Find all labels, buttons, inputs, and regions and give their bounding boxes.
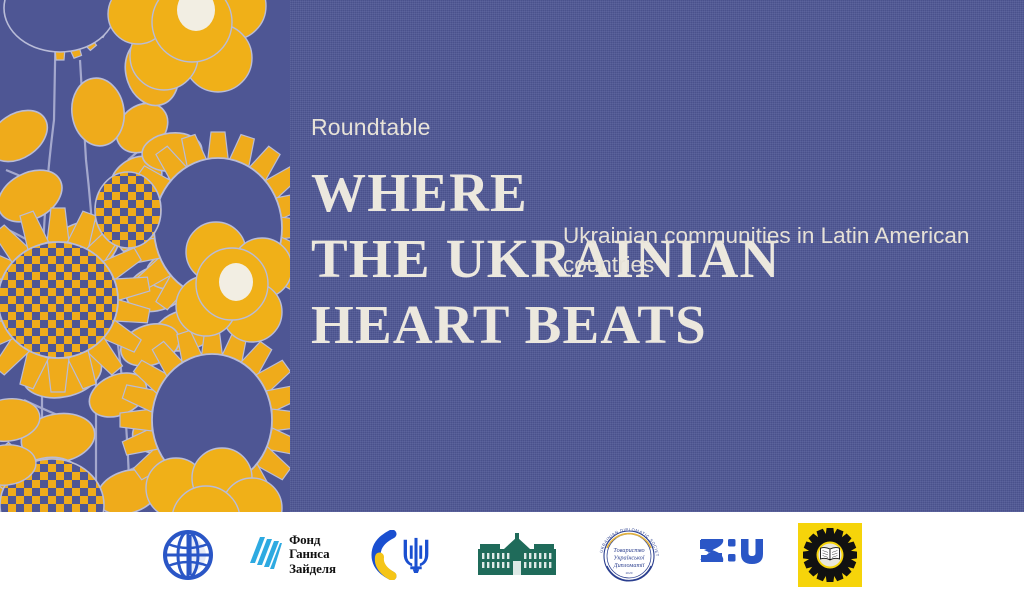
svg-text:Дипломатії: Дипломатії	[613, 562, 645, 569]
hss-line-1: Фонд	[289, 533, 336, 548]
daisy-flower-mid	[176, 222, 290, 342]
ukraine-tryzub-logo: Ukrainian trident with blue and yellow a…	[370, 523, 440, 587]
poster-root: Roundtable WHERE THE UKRAINIAN HEART BEA…	[0, 0, 1024, 597]
sunflower-checkered-small	[95, 172, 161, 248]
hero-panel: Roundtable WHERE THE UKRAINIAN HEART BEA…	[0, 0, 1024, 512]
seal-year: 2020	[626, 571, 633, 575]
hss-line-3: Зайделя	[289, 562, 336, 577]
title-row: WHERE THE UKRAINIAN HEART BEATS Ukrainia…	[311, 165, 1001, 353]
ukrainian-diplomatic-society-seal: UKRAINIAN DIPLOMATIC SOCIETY Товариство …	[594, 523, 664, 587]
hanns-seidel-wordmark: Фонд Ганнса Зайделя	[289, 533, 336, 577]
partner-logo-bar: Globe emblem Фонд Ганнса Зайделя	[0, 512, 1024, 597]
svg-text:Української: Української	[613, 554, 644, 561]
sunflower-book-emblem-logo: Sunflower with open book emblem	[798, 523, 862, 587]
hanns-seidel-foundation-logo: Фонд Ганнса Зайделя	[248, 523, 336, 587]
text-block: Roundtable WHERE THE UKRAINIAN HEART BEA…	[311, 112, 1001, 353]
kicker-label: Roundtable	[311, 112, 1001, 142]
title-line-3: HEART BEATS	[311, 297, 1001, 353]
subtitle: Ukrainian communities in Latin American …	[563, 221, 983, 279]
title-line-1: WHERE	[311, 165, 1001, 221]
globe-logo: Globe emblem	[162, 523, 214, 587]
hss-line-2: Ганнса	[289, 547, 336, 562]
ministry-building-logo: Ministry of Foreign Affairs building	[474, 523, 560, 587]
svg-text:Товариство: Товариство	[613, 547, 644, 554]
sunflower-artwork	[0, 0, 290, 512]
ziu-wordmark-logo: ЗІU	[698, 523, 764, 587]
hss-stripes-icon	[248, 533, 282, 577]
